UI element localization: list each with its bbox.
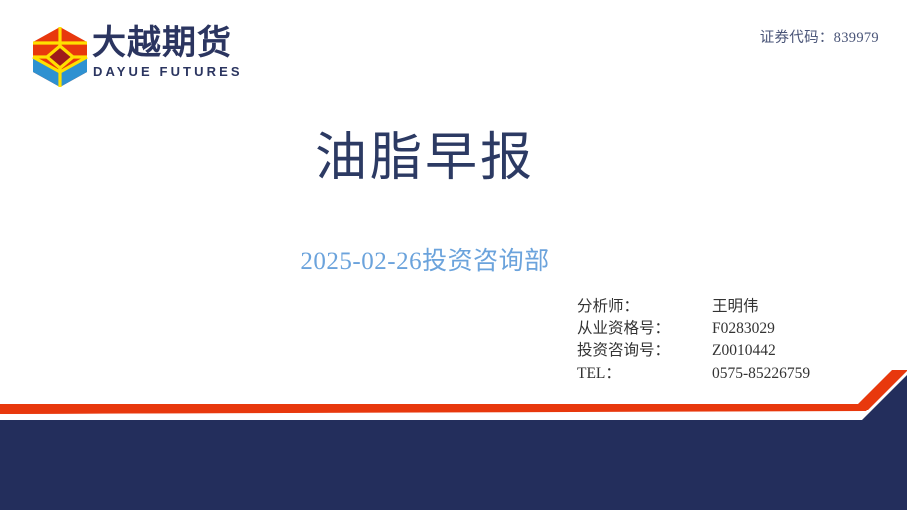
banner-navy-block [0,375,907,510]
page-subtitle: 2025-02-26投资咨询部 [0,241,850,277]
banner-graphic [0,370,907,510]
logo-chinese-name: 大越期货 [92,24,232,62]
logo-english-name: DAYUE FUTURES [93,64,243,79]
company-logo: 大越期货 DAYUE FUTURES [30,24,260,92]
analyst-value: 王明伟 [712,296,759,318]
security-code-text: 证券代码：839979 [760,26,879,47]
analyst-row: 分析师：王明伟 [577,296,810,318]
analyst-label: 从业资格号： [577,318,712,340]
logo-wordmark: 大越期货 DAYUE FUTURES [92,24,257,90]
analyst-row: 投资咨询号：Z0010442 [577,340,810,362]
title-area: 油脂早报 2025-02-26投资咨询部 [0,128,850,190]
analyst-value: Z0010442 [712,340,776,362]
analyst-label: 分析师： [577,296,712,318]
analyst-row: 从业资格号：F0283029 [577,318,810,340]
analyst-label: 投资咨询号： [577,340,712,362]
page-title: 油脂早报 [0,128,850,190]
slide-page: 大越期货 DAYUE FUTURES 证券代码：839979 油脂早报 2025… [0,0,907,510]
bottom-decorative-banner [0,370,907,510]
banner-orange-stripe-shape [0,370,907,414]
analyst-value: F0283029 [712,318,775,340]
dayue-hexagon-cube-logo-icon [32,26,88,88]
